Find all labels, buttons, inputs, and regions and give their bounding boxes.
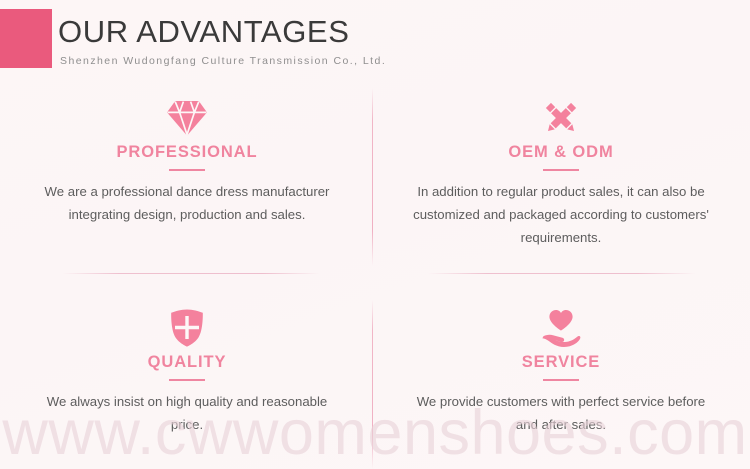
company-name: Shenzhen Wudongfang Culture Transmission… bbox=[60, 55, 386, 67]
banner-header: OUR ADVANTAGES Shenzhen Wudongfang Cultu… bbox=[0, 0, 750, 82]
advantages-banner: OUR ADVANTAGES Shenzhen Wudongfang Cultu… bbox=[0, 0, 750, 469]
cell-title-quality: QUALITY bbox=[22, 353, 352, 372]
cell-title-service: SERVICE bbox=[396, 353, 726, 372]
advantage-cell-quality: QUALITY We always insist on high quality… bbox=[22, 306, 352, 436]
cell-body-quality: We always insist on high quality and rea… bbox=[22, 390, 352, 436]
advantage-cell-professional: PROFESSIONAL We are a professional dance… bbox=[22, 96, 352, 226]
cell-title-oem-odm: OEM & ODM bbox=[396, 143, 726, 162]
vertical-divider-bottom bbox=[372, 300, 373, 469]
cell-body-professional: We are a professional dance dress manufa… bbox=[22, 180, 352, 226]
crossed-pencils-icon bbox=[396, 96, 726, 140]
title-underline bbox=[543, 169, 579, 171]
title-underline bbox=[543, 379, 579, 381]
horizontal-divider-left bbox=[62, 273, 320, 274]
diamond-icon bbox=[22, 96, 352, 140]
horizontal-divider-right bbox=[428, 273, 696, 274]
advantage-cell-oem-odm: OEM & ODM In addition to regular product… bbox=[396, 96, 726, 249]
cell-body-oem-odm: In addition to regular product sales, it… bbox=[396, 180, 726, 249]
title-underline bbox=[169, 379, 205, 381]
page-title: OUR ADVANTAGES bbox=[58, 13, 349, 51]
advantage-cell-service: SERVICE We provide customers with perfec… bbox=[396, 306, 726, 436]
vertical-divider-top bbox=[372, 88, 373, 266]
title-underline bbox=[169, 169, 205, 171]
hand-heart-icon bbox=[396, 306, 726, 350]
header-accent-block bbox=[0, 9, 52, 68]
cell-title-professional: PROFESSIONAL bbox=[22, 143, 352, 162]
cell-body-service: We provide customers with perfect servic… bbox=[396, 390, 726, 436]
shield-icon bbox=[22, 306, 352, 350]
